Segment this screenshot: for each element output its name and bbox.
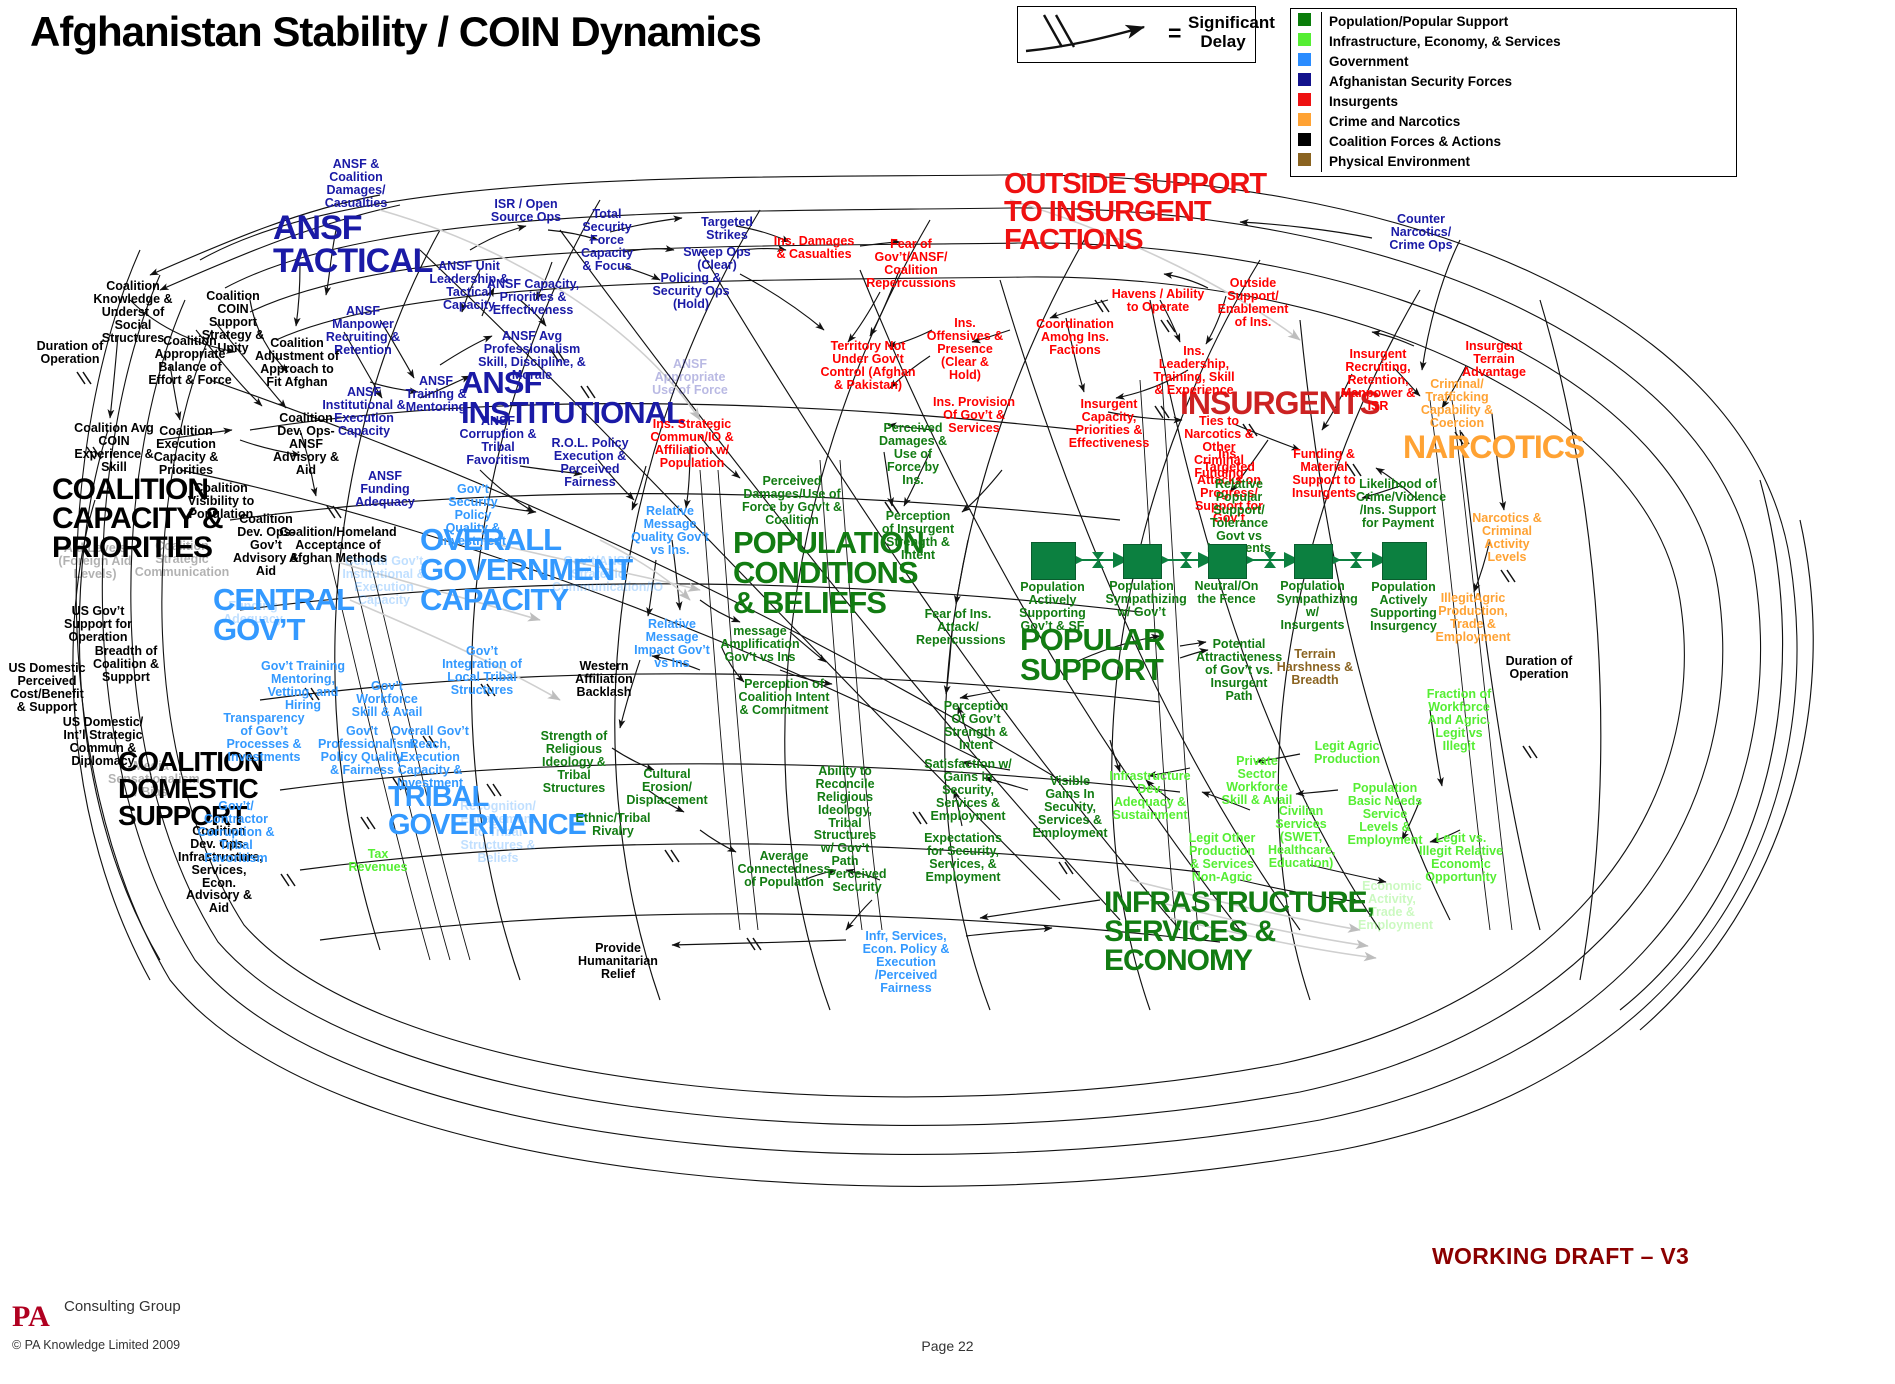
legend-color-swatch bbox=[1298, 73, 1311, 86]
variable-label: ISR / Open Source Ops bbox=[487, 198, 565, 224]
variable-label: Perceived Security bbox=[824, 868, 890, 894]
variable-label: Visible Gains In Security, Services & Em… bbox=[1032, 775, 1108, 839]
variable-label: US Gov’t Support for Operation bbox=[60, 605, 136, 644]
delay-key-label: Significant Delay bbox=[1188, 14, 1258, 51]
variable-label: Fraction of Workforce And Agric. Legit v… bbox=[1420, 688, 1498, 752]
legend-swatch-cell bbox=[1295, 92, 1322, 112]
legend-swatch-cell bbox=[1295, 52, 1322, 72]
legend-swatch-cell bbox=[1295, 112, 1322, 132]
legend-swatch-cell bbox=[1295, 72, 1322, 92]
variable-label: Coalition Appropriate Balance of Effort … bbox=[148, 335, 232, 387]
variable-label: Coalition Execution Capacity & Prioritie… bbox=[140, 425, 232, 477]
variable-label: message Amplification Gov’t vs Ins bbox=[716, 625, 804, 664]
variable-label: Infr, Services, Econ. Policy & Execution… bbox=[848, 930, 964, 994]
legend-label: Population/Popular Support bbox=[1322, 12, 1561, 32]
variable-label: Coalition Adjustment of Approach to Fit … bbox=[252, 337, 342, 389]
page-title: Afghanistan Stability / COIN Dynamics bbox=[30, 8, 761, 56]
legend-row: Crime and Narcotics bbox=[1295, 112, 1561, 132]
variable-label: Perceived Damages/Use of Force by Gov’t … bbox=[740, 475, 844, 527]
variable-label: Ins. Strategic Commun/IO & Affiliation w… bbox=[645, 418, 739, 470]
variable-label: Ins. Damages & Casualties bbox=[770, 235, 858, 261]
legend-label: Infrastructure, Economy, & Services bbox=[1322, 32, 1561, 52]
legend-label: Afghanistan Security Forces bbox=[1322, 72, 1561, 92]
variable-label: Cultural Erosion/ Displacement bbox=[620, 768, 714, 807]
stock-box-neutral-on-the-fence bbox=[1208, 544, 1247, 579]
cluster-heading-ansf-tactical: ANSF TACTICAL bbox=[273, 212, 443, 278]
cluster-heading-popular-support: POPULAR SUPPORT bbox=[1020, 625, 1180, 685]
legend-swatch-cell bbox=[1295, 12, 1322, 32]
legend-color-swatch bbox=[1298, 13, 1311, 26]
variable-label: Infrastructure Dev. Adequacy & Sustainme… bbox=[1108, 770, 1192, 822]
variable-label: Fear of Ins. Attack/ Repercussions bbox=[916, 608, 1000, 647]
stock-label-population-actively-supporting-govt-sf: Population Actively Supporting Gov’t & S… bbox=[1017, 581, 1089, 634]
variable-label: Counter Narcotics/ Crime Ops bbox=[1372, 213, 1470, 252]
variable-label: Gov’t/ Contractor Corruption & Tribal Fa… bbox=[192, 800, 280, 864]
variable-label: Outside Support/ Enablement of Ins. bbox=[1217, 277, 1289, 329]
variable-label: Insurgent Recruiting, Retention, Manpowe… bbox=[1340, 348, 1416, 412]
variable-label: Gov’t/ANSF Strategic Communication/IO bbox=[552, 555, 644, 594]
legend-label: Physical Environment bbox=[1322, 152, 1561, 172]
stock-label-population-sympathizing-w-govt: Population Sympathizing w/ Gov’t bbox=[1106, 580, 1178, 619]
variable-label: Funding Adequacy bbox=[213, 600, 293, 626]
variable-label: Relative Message Quality Gov’t vs Ins. bbox=[628, 505, 712, 557]
variable-label: Potential Attractiveness of Gov’t vs. In… bbox=[1196, 638, 1282, 702]
cluster-heading-narcotics: NARCOTICS bbox=[1403, 432, 1573, 463]
stock-box-population-actively-supporting-govt-sf bbox=[1031, 542, 1076, 580]
variable-label: Ability to Reconcile Religious Ideology,… bbox=[806, 765, 884, 868]
variable-label: Gov’t Training Mentoring, Vetting, and H… bbox=[258, 660, 348, 712]
variable-label: Targeted Strikes bbox=[692, 216, 762, 242]
legend-swatch-cell bbox=[1295, 152, 1322, 172]
variable-label: Territory Not Under Gov’t Control (Afgha… bbox=[818, 340, 918, 392]
variable-label: Duration of Operation bbox=[26, 340, 114, 366]
variable-label: Satisfaction w/ Gains in Security, Servi… bbox=[922, 758, 1014, 822]
variable-label: Ins. Leadership, Training, Skill & Exper… bbox=[1152, 345, 1236, 397]
variable-label: Perception Of Gov’t Strength & Intent bbox=[940, 700, 1012, 752]
variable-label: Coalition Strategic Communication bbox=[134, 540, 230, 579]
variable-label: R.O.L. Policy Execution & Perceived Fair… bbox=[547, 437, 633, 489]
variable-label: Civilian Services (SWET, Healthcare, Edu… bbox=[1268, 805, 1334, 869]
variable-label: Ins. Offensives & Presence (Clear & Hold… bbox=[924, 317, 1006, 381]
stock-label-population-actively-supporting-insurgency: Population Actively Supporting Insurgenc… bbox=[1368, 581, 1440, 634]
legend-label: Coalition Forces & Actions bbox=[1322, 132, 1561, 152]
variable-label: Insurgent Capacity, Priorities & Effecti… bbox=[1068, 398, 1150, 450]
variable-label: Coalition Dev. Ops- ANSF Advisory & Aid bbox=[268, 412, 344, 476]
diagram-canvas: Afghanistan Stability / COIN Dynamics = … bbox=[0, 0, 1895, 1384]
variable-label: Overall Gov’t Reach, Execution Capacity … bbox=[390, 725, 470, 789]
variable-label: Likelihood of Crime/Violence /Ins. Suppo… bbox=[1356, 478, 1440, 530]
color-legend: Population/Popular SupportInfrastructure… bbox=[1290, 8, 1737, 177]
legend-color-swatch bbox=[1298, 93, 1311, 106]
stock-box-population-sympathizing-w-govt bbox=[1123, 544, 1162, 579]
stock-box-population-sympathizing-w-insurgents bbox=[1294, 544, 1333, 579]
legend-row: Afghanistan Security Forces bbox=[1295, 72, 1561, 92]
cluster-heading-outside-support: OUTSIDE SUPPORT TO INSURGENT FACTIONS bbox=[1004, 170, 1274, 254]
variable-label: Funding & Material Support to Insurgents bbox=[1286, 448, 1362, 500]
legend-row: Population/Popular Support bbox=[1295, 12, 1561, 32]
legend-row: Physical Environment bbox=[1295, 152, 1561, 172]
legend-swatch-cell bbox=[1295, 132, 1322, 152]
variable-label: Tax Revenues bbox=[345, 848, 411, 874]
legend-table: Population/Popular SupportInfrastructure… bbox=[1295, 12, 1561, 172]
variable-label: Criminal/ Trafficking Capability & Coerc… bbox=[1420, 378, 1494, 430]
variable-label: Perception of Insurgent Strength & Inten… bbox=[880, 510, 956, 562]
variable-label: Recognition/ Engagement to Tribal Struct… bbox=[455, 800, 541, 864]
variable-label: Gov’t Integration of Local Tribal Struct… bbox=[440, 645, 524, 697]
variable-label: ANSF Capacity, Priorities & Effectivenes… bbox=[486, 278, 580, 317]
variable-label: Duration of Operation bbox=[1500, 655, 1578, 681]
variable-label: Legit Other Production & Services Non-Ag… bbox=[1186, 832, 1258, 884]
variable-label: IllegitAgric Production, Trade & Employm… bbox=[1432, 592, 1514, 644]
variable-label: ANSF Funding Adequacy bbox=[350, 470, 420, 509]
variable-label: Legit Agric Production bbox=[1310, 740, 1384, 766]
legend-row: Coalition Forces & Actions bbox=[1295, 132, 1561, 152]
stock-label-neutral-on-the-fence: Neutral/On the Fence bbox=[1191, 580, 1263, 606]
variable-label: Terrain Harshness & Breadth bbox=[1272, 648, 1358, 687]
cluster-heading-infrastructure: INFRASTRUCTURE, SERVICES & ECONOMY bbox=[1104, 888, 1364, 975]
variable-label: Policing & Security Ops (Hold) bbox=[648, 272, 734, 311]
variable-label: Economic Activity, Trade & Employment bbox=[1358, 880, 1426, 932]
draft-stamp: WORKING DRAFT – V3 bbox=[1432, 1243, 1689, 1270]
variable-label: US Domestic Perceived Cost/Benefit & Sup… bbox=[4, 662, 90, 714]
legend-label: Insurgents bbox=[1322, 92, 1561, 112]
variable-label: Insurgent Terrain Advantage bbox=[1455, 340, 1533, 379]
variable-label: Aid Levels (Foreign Aid Levels) bbox=[50, 542, 140, 581]
variable-label: ANSF Appropriate Use of Force bbox=[647, 358, 733, 397]
variable-label: Provide Humanitarian Relief bbox=[576, 942, 660, 981]
variable-label: Ethnic/Tribal Rivalry bbox=[572, 812, 654, 838]
legend-label: Crime and Narcotics bbox=[1322, 112, 1561, 132]
variable-label: Central Gov’t Institutional & Execution … bbox=[340, 555, 428, 607]
variable-label: ANSF Avg Professionalism Skill, Discipli… bbox=[477, 330, 587, 382]
legend-row: Insurgents bbox=[1295, 92, 1561, 112]
variable-label: ANSF Corruption & Tribal Favoritism bbox=[459, 415, 537, 467]
pa-logo-mark: PA bbox=[12, 1300, 50, 1333]
legend-color-swatch bbox=[1298, 153, 1311, 166]
variable-label: Fear of Gov’t/ANSF/ Coalition Repercussi… bbox=[866, 238, 956, 290]
variable-label: Population Basic Needs Service Levels & … bbox=[1344, 782, 1426, 846]
variable-label: Strength of Religious Ideology & Tribal … bbox=[535, 730, 613, 794]
variable-label: Western Affiliation Backlash bbox=[565, 660, 643, 699]
pa-logo: PA bbox=[12, 1300, 50, 1334]
stock-label-population-sympathizing-w-insurgents: Population Sympathizing w/ Insurgents bbox=[1277, 580, 1349, 633]
legend-swatch-cell bbox=[1295, 32, 1322, 52]
page-number: Page 22 bbox=[0, 1338, 1895, 1354]
legend-color-swatch bbox=[1298, 33, 1311, 46]
variable-label: ANSF Training & Mentoring bbox=[402, 375, 470, 414]
variable-label: Expectations for Security, Services, & E… bbox=[920, 832, 1006, 884]
variable-label: Media Sensationalism / Bias bbox=[108, 760, 194, 799]
legend-label: Government bbox=[1322, 52, 1561, 72]
pa-logo-name: Consulting Group bbox=[64, 1299, 181, 1315]
legend-color-swatch bbox=[1298, 113, 1311, 126]
variable-label: Gov’t Security Policy Quality & Investme… bbox=[434, 483, 512, 547]
delay-equals-sign: = bbox=[1168, 20, 1181, 47]
variable-label: ANSF & Coalition Damages/ Casualties bbox=[315, 158, 397, 210]
variable-label: Transparency of Gov’t Processes & Invest… bbox=[222, 712, 306, 764]
variable-label: Sweep Ops (Clear) bbox=[678, 246, 756, 272]
variable-label: Coordination Among Ins. Factions bbox=[1032, 318, 1118, 357]
variable-label: Narcotics & Criminal Activity Levels bbox=[1470, 512, 1544, 564]
variable-label: Perceived Damages & Use of Force by Ins. bbox=[876, 422, 950, 486]
variable-label: Total Security Force Capacity & Focus bbox=[578, 208, 636, 272]
variable-label: Legit vs. Illegit Relative Economic Oppo… bbox=[1418, 832, 1504, 884]
variable-label: Private Sector Workforce Skill & Avail bbox=[1216, 755, 1298, 807]
delay-hashmark-arrow-icon bbox=[1018, 7, 1168, 59]
variable-label: Perception of Coalition Intent & Commitm… bbox=[738, 678, 830, 717]
legend-row: Government bbox=[1295, 52, 1561, 72]
legend-color-swatch bbox=[1298, 133, 1311, 146]
legend-color-swatch bbox=[1298, 53, 1311, 66]
legend-row: Infrastructure, Economy, & Services bbox=[1295, 32, 1561, 52]
stock-box-population-actively-supporting-insurgency bbox=[1382, 542, 1427, 580]
variable-label: Gov’t Workforce Skill & Avail bbox=[348, 680, 426, 719]
variable-label: Breadth of Coalition & Support bbox=[88, 645, 164, 684]
variable-label: Havens / Ability to Operate bbox=[1108, 288, 1208, 314]
